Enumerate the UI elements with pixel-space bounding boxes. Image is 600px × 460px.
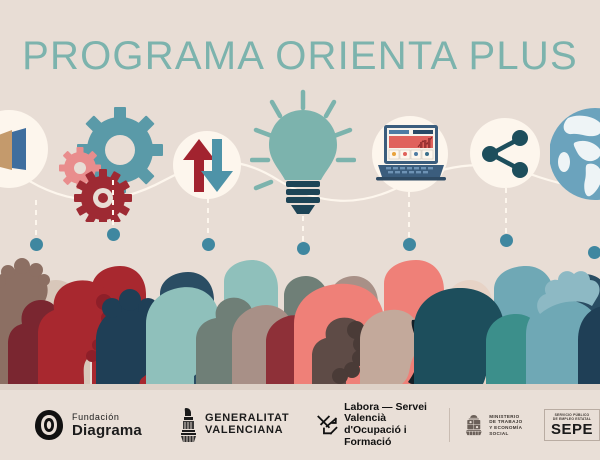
silhouettes-group	[0, 248, 600, 388]
share-network-icon	[482, 130, 530, 178]
generalitat-crest-icon	[178, 407, 200, 443]
generalitat-valenciana-logo[interactable]: GENERALITAT VALENCIANA	[178, 407, 289, 443]
silhouettes-svg	[0, 248, 600, 388]
labora-line2: d'Ocupació i Formació	[344, 425, 433, 449]
dropper-dot-2	[107, 228, 120, 241]
dropper-line-2	[112, 180, 114, 230]
generalitat-line2: VALENCIANA	[205, 425, 289, 437]
page-title: PROGRAMA ORIENTA PLUS	[0, 34, 600, 79]
sepe-wordmark: SEPE	[551, 422, 593, 438]
diagrama-mark-icon	[32, 408, 66, 442]
laptop-dashboard-icon	[376, 122, 446, 184]
ministerio-trabajo-logo[interactable]: MINISTERIO DE TRABAJO Y ECONOMÍA SOCIAL	[463, 410, 528, 440]
lightbulb-icon	[250, 88, 356, 220]
title-band: PROGRAMA ORIENTA PLUS	[0, 0, 600, 95]
icon-strip	[0, 88, 600, 248]
dropper-line-4	[302, 216, 304, 244]
dropper-line-5	[408, 192, 410, 240]
dropper-line-1	[35, 200, 37, 240]
logo-row: Fundación Diagrama	[0, 390, 600, 460]
megaphone-icon	[0, 112, 52, 188]
labora-line1: Labora — Servei Valencià	[344, 402, 433, 426]
labora-mark-icon	[317, 410, 338, 440]
fundacion-diagrama-line2: Diagrama	[72, 423, 142, 438]
refresh-arrows-icon	[178, 134, 238, 196]
spain-coat-of-arms-icon	[463, 410, 485, 440]
sepe-logo[interactable]: SERVICIO PÚBLICO DE EMPLEO ESTATAL SEPE	[544, 409, 600, 441]
fundacion-diagrama-line1: Fundación	[72, 413, 142, 422]
globe-icon	[550, 102, 600, 206]
poster-canvas: PROGRAMA ORIENTA PLUS	[0, 0, 600, 460]
fundacion-diagrama-logo[interactable]: Fundación Diagrama	[32, 408, 142, 442]
dropper-line-3	[207, 198, 209, 240]
footer-logo-bar: Fundación Diagrama	[0, 390, 600, 460]
dropper-dot-6	[500, 234, 513, 247]
logo-divider	[449, 408, 450, 442]
labora-logo[interactable]: Labora — Servei Valencià d'Ocupació i Fo…	[317, 402, 433, 449]
dropper-line-6	[505, 188, 507, 236]
ministerio-line3: Y ECONOMÍA SOCIAL	[489, 425, 528, 436]
